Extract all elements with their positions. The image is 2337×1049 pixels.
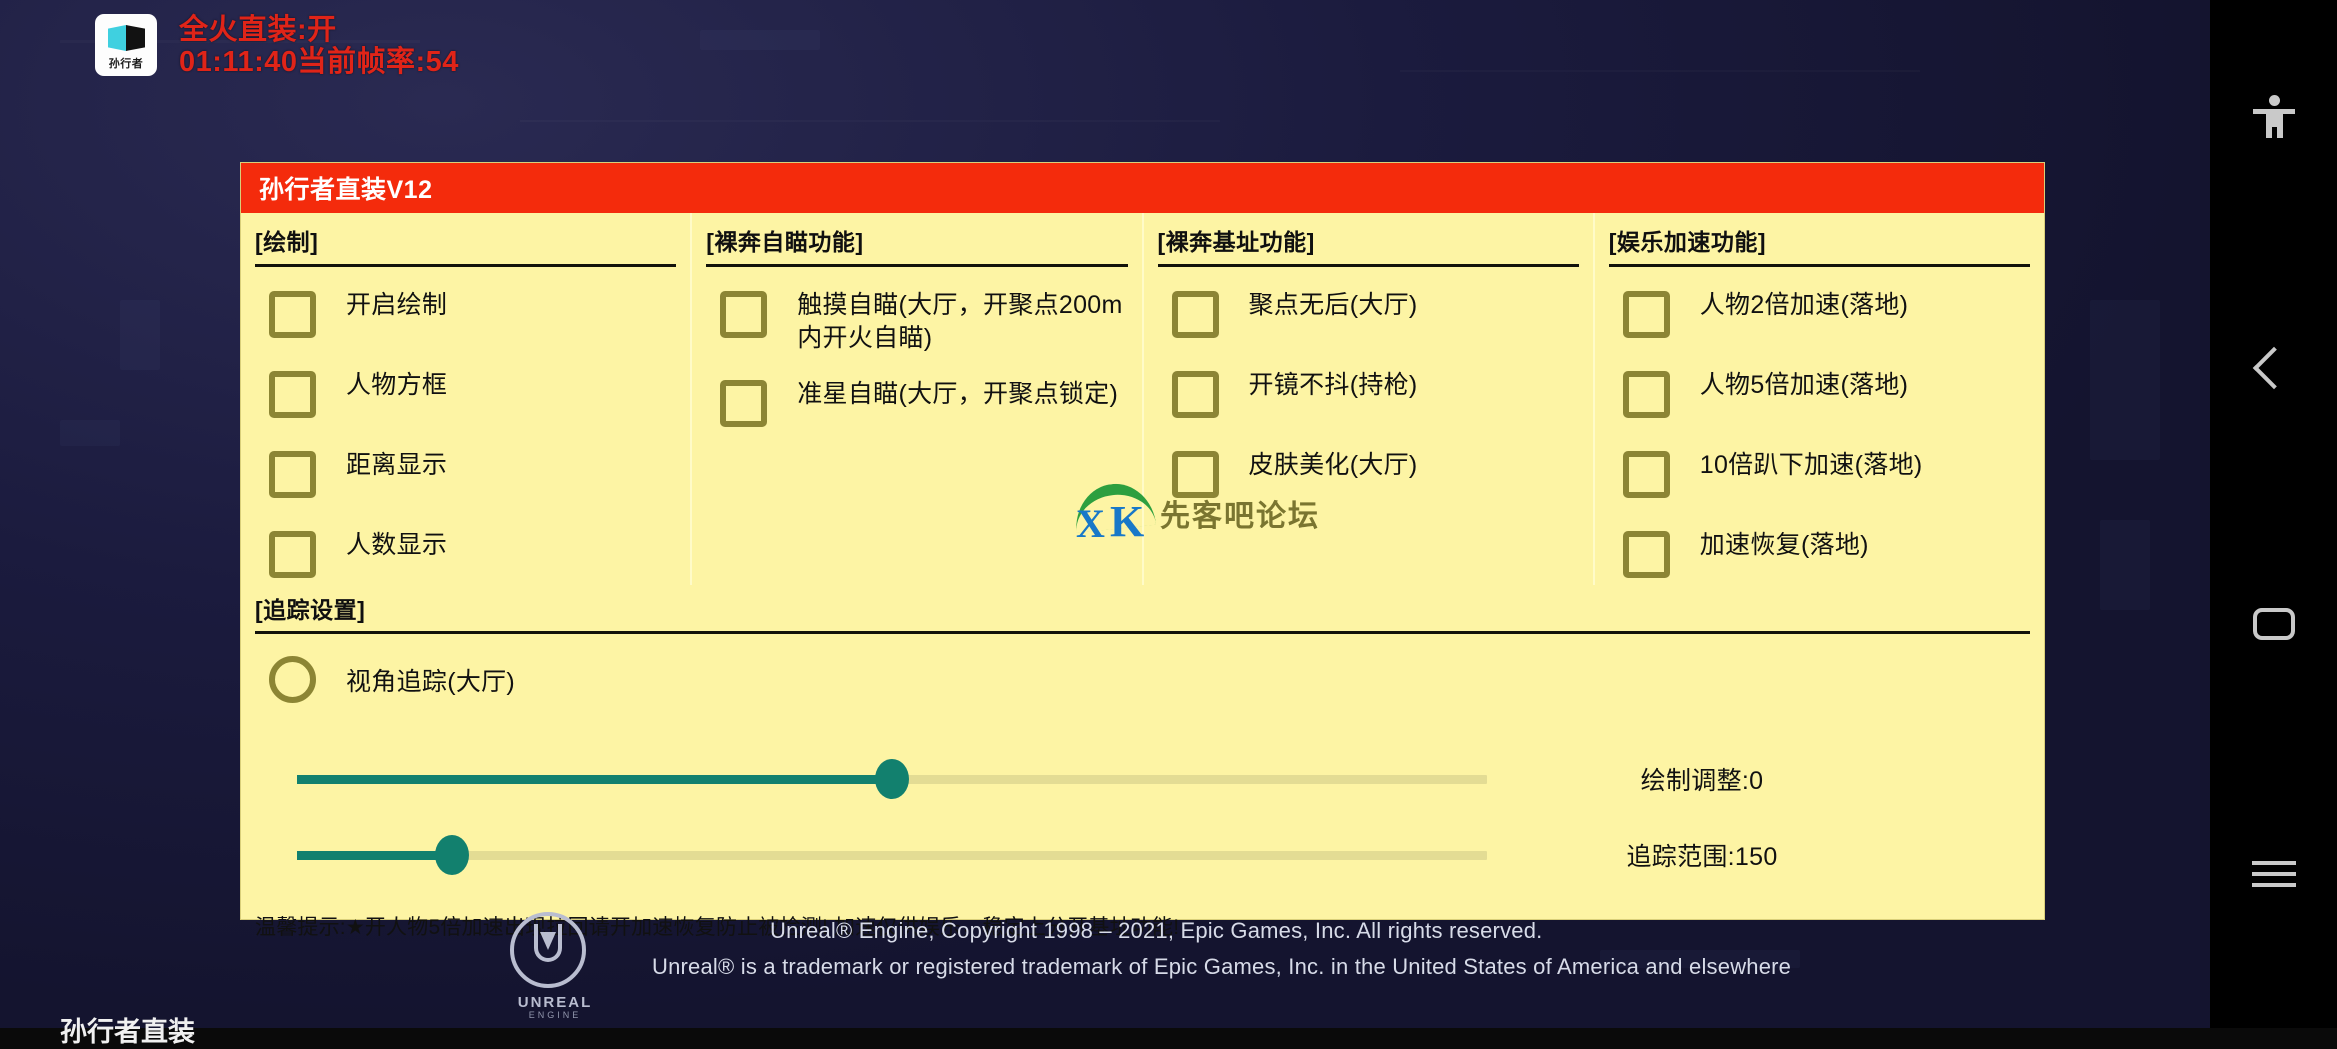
option-row[interactable]: 人物方框: [269, 369, 676, 427]
option-label: 皮肤美化(大厅): [1249, 449, 1418, 482]
option-label: 人物5倍加速(落地): [1700, 369, 1909, 402]
slider-value-track-range: 追踪范围:150: [1487, 837, 1917, 873]
checkbox-speed-restore[interactable]: [1623, 531, 1670, 578]
unreal-logo-word: UNREAL: [500, 994, 610, 1011]
slider-draw-adjust[interactable]: [297, 741, 1487, 817]
unreal-logo-word2: ENGINE: [500, 1010, 610, 1020]
column-header: [裸奔自瞄功能]: [706, 223, 1127, 267]
option-row[interactable]: 聚点无后(大厅): [1172, 289, 1579, 347]
slider-knob[interactable]: [875, 759, 909, 799]
radio-view-tracking[interactable]: [269, 656, 316, 703]
slider-fill: [297, 851, 452, 860]
option-label: 聚点无后(大厅): [1249, 289, 1418, 322]
option-label: 人数显示: [346, 529, 447, 562]
option-label: 10倍趴下加速(落地): [1700, 449, 1923, 482]
forum-watermark: X K 先客吧论坛: [1070, 482, 1320, 544]
option-row[interactable]: 人物5倍加速(落地): [1623, 369, 2030, 427]
slider-fill: [297, 775, 892, 784]
home-button[interactable]: [2210, 594, 2337, 654]
slider-row-track-range: 追踪范围:150: [255, 817, 2030, 893]
home-icon: [2253, 608, 2295, 640]
option-row[interactable]: 10倍趴下加速(落地): [1623, 449, 2030, 507]
tracking-section: [追踪设置] 视角追踪(大厅): [241, 585, 2044, 703]
slider-knob[interactable]: [435, 835, 469, 875]
panel-title: 孙行者直装V12: [241, 163, 2044, 213]
slider-track-range[interactable]: [297, 817, 1487, 893]
option-row[interactable]: 触摸自瞄(大厅，开聚点200m内开火自瞄): [720, 289, 1127, 356]
radio-row-view-tracking[interactable]: 视角追踪(大厅): [269, 656, 2030, 703]
checkbox-player-box[interactable]: [269, 371, 316, 418]
column-header: [绘制]: [255, 223, 676, 267]
unreal-footer: UNREAL ENGINE Unreal® Engine, Copyright …: [500, 912, 1791, 1022]
column-draw: [绘制] 开启绘制 人物方框 距离显示 人数显: [241, 213, 692, 585]
watermark-letter-k: K: [1110, 500, 1144, 544]
back-chevron-icon: [2252, 347, 2294, 389]
watermark-logo-icon: X K: [1070, 482, 1154, 544]
option-label: 加速恢复(落地): [1700, 529, 1869, 562]
menu-icon: [2252, 861, 2296, 887]
unreal-copyright-line2: Unreal® is a trademark or registered tra…: [652, 954, 1791, 980]
checkbox-distance-display[interactable]: [269, 451, 316, 498]
column-header: [娱乐加速功能]: [1609, 223, 2030, 267]
slider-value-draw-adjust: 绘制调整:0: [1487, 761, 1917, 797]
option-row[interactable]: 人物2倍加速(落地): [1623, 289, 2030, 347]
system-navbar: [2210, 0, 2337, 1028]
option-label: 开启绘制: [346, 289, 447, 322]
option-label: 开镜不抖(持枪): [1249, 369, 1418, 402]
option-row[interactable]: 距离显示: [269, 449, 676, 507]
checkbox-speed-5x[interactable]: [1623, 371, 1670, 418]
option-label: 准星自瞄(大厅，开聚点锁定): [797, 378, 1118, 411]
watermark-text: 先客吧论坛: [1160, 491, 1320, 535]
corner-label: 孙行者直装: [60, 1010, 195, 1049]
app-logo-icon: 孙行者: [95, 14, 157, 76]
option-row[interactable]: 准星自瞄(大厅，开聚点锁定): [720, 378, 1127, 436]
option-label: 人物2倍加速(落地): [1700, 289, 1909, 322]
screen-root: 孙行者 全火直装:开 01:11:40当前帧率:54 孙行者直装V12 [绘制]…: [0, 0, 2337, 1028]
option-row[interactable]: 开启绘制: [269, 289, 676, 347]
accessibility-button[interactable]: [2210, 88, 2337, 148]
option-row[interactable]: 加速恢复(落地): [1623, 529, 2030, 587]
checkbox-touch-aimbot[interactable]: [720, 291, 767, 338]
unreal-engine-icon: UNREAL ENGINE: [500, 910, 610, 1022]
checkbox-no-recoil[interactable]: [1172, 291, 1219, 338]
checkbox-crosshair-aimbot[interactable]: [720, 380, 767, 427]
option-label: 人物方框: [346, 369, 447, 402]
unreal-copyright-line1: Unreal® Engine, Copyright 1998 – 2021, E…: [770, 918, 1791, 944]
radio-label: 视角追踪(大厅): [346, 662, 515, 698]
slider-row-draw-adjust: 绘制调整:0: [255, 741, 2030, 817]
app-logo-label: 孙行者: [95, 55, 157, 71]
option-row[interactable]: 人数显示: [269, 529, 676, 587]
slider-section: 绘制调整:0 追踪范围:150: [241, 741, 2044, 893]
option-label: 距离显示: [346, 449, 447, 482]
column-speed-functions: [娱乐加速功能] 人物2倍加速(落地) 人物5倍加速(落地) 10倍趴下加速(落…: [1595, 213, 2044, 585]
back-button[interactable]: [2210, 338, 2337, 398]
watermark-letter-x: X: [1076, 504, 1105, 544]
checkbox-speed-2x[interactable]: [1623, 291, 1670, 338]
hud-timer-fps-line: 01:11:40当前帧率:54: [179, 46, 459, 78]
checkbox-no-scope-shake[interactable]: [1172, 371, 1219, 418]
slider-track[interactable]: [297, 851, 1487, 860]
tracking-header: [追踪设置]: [255, 591, 2030, 634]
checkbox-prone-speed-10x[interactable]: [1623, 451, 1670, 498]
column-header: [裸奔基址功能]: [1158, 223, 1579, 267]
option-row[interactable]: 开镜不抖(持枪): [1172, 369, 1579, 427]
accessibility-icon: [2251, 95, 2297, 141]
hud-overlay: 孙行者 全火直装:开 01:11:40当前帧率:54: [95, 14, 459, 79]
checkbox-enable-draw[interactable]: [269, 291, 316, 338]
hud-status-line: 全火直装:开: [179, 14, 459, 46]
menu-button[interactable]: [2210, 844, 2337, 904]
option-label: 触摸自瞄(大厅，开聚点200m内开火自瞄): [797, 289, 1127, 356]
checkbox-player-count[interactable]: [269, 531, 316, 578]
